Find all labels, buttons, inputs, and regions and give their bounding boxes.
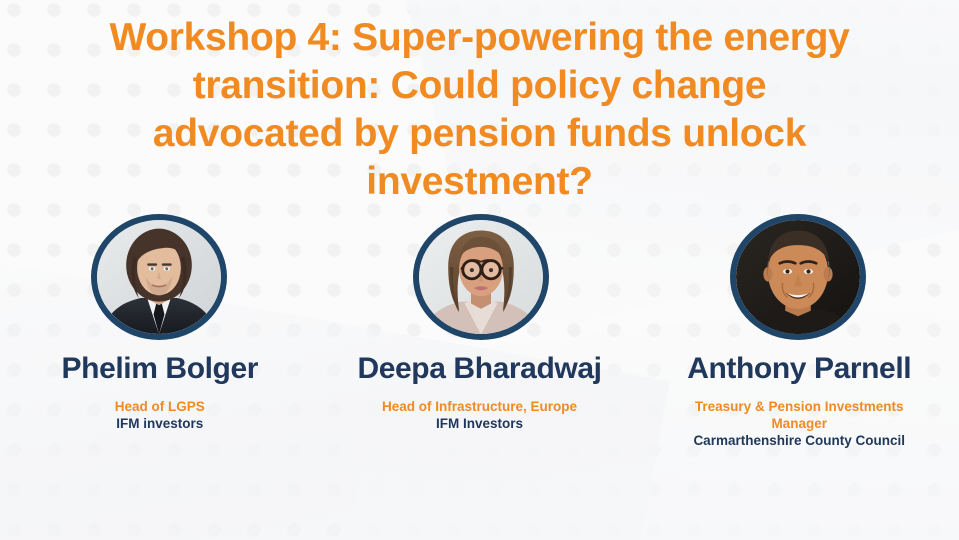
avatar-photo-anthony-parnell (736, 220, 860, 334)
avatar-photo-deepa-bharadwaj (419, 220, 543, 334)
title-line-1: Workshop 4: Super-powering the energy (30, 14, 929, 62)
speaker-role: Head of LGPS (10, 398, 310, 415)
avatar-photo-phelim-bolger (97, 220, 221, 334)
speaker-name: Deepa Bharadwaj (357, 352, 601, 386)
speaker-card-phelim-bolger: Phelim Bolger Head of LGPS IFM investors (0, 214, 320, 432)
speaker-role-line-2: Manager (649, 415, 949, 432)
title-line-4: investment? (30, 158, 929, 206)
title-line-2: transition: Could policy change (30, 62, 929, 110)
avatar (413, 214, 549, 340)
speaker-role-line-1: Treasury & Pension Investments (649, 398, 949, 415)
speaker-organisation: Carmarthenshire County Council (649, 432, 949, 449)
speaker-role: Head of Infrastructure, Europe (330, 398, 630, 415)
avatar (730, 214, 866, 340)
speaker-organisation: IFM Investors (330, 415, 630, 432)
speaker-organisation: IFM investors (10, 415, 310, 432)
speaker-list: Phelim Bolger Head of LGPS IFM investors (0, 214, 959, 449)
avatar (91, 214, 227, 340)
speaker-card-deepa-bharadwaj: Deepa Bharadwaj Head of Infrastructure, … (320, 214, 640, 432)
speaker-name: Phelim Bolger (62, 352, 259, 386)
speaker-name: Anthony Parnell (687, 352, 911, 386)
speaker-meta: Treasury & Pension Investments Manager C… (649, 398, 949, 449)
speaker-meta: Head of LGPS IFM investors (10, 398, 310, 432)
speaker-card-anthony-parnell: Anthony Parnell Treasury & Pension Inves… (639, 214, 959, 449)
title-line-3: advocated by pension funds unlock (30, 110, 929, 158)
slide-content: Workshop 4: Super-powering the energy tr… (0, 0, 959, 540)
speaker-slide: Workshop 4: Super-powering the energy tr… (0, 0, 959, 540)
slide-title: Workshop 4: Super-powering the energy tr… (30, 14, 929, 206)
speaker-meta: Head of Infrastructure, Europe IFM Inves… (330, 398, 630, 432)
